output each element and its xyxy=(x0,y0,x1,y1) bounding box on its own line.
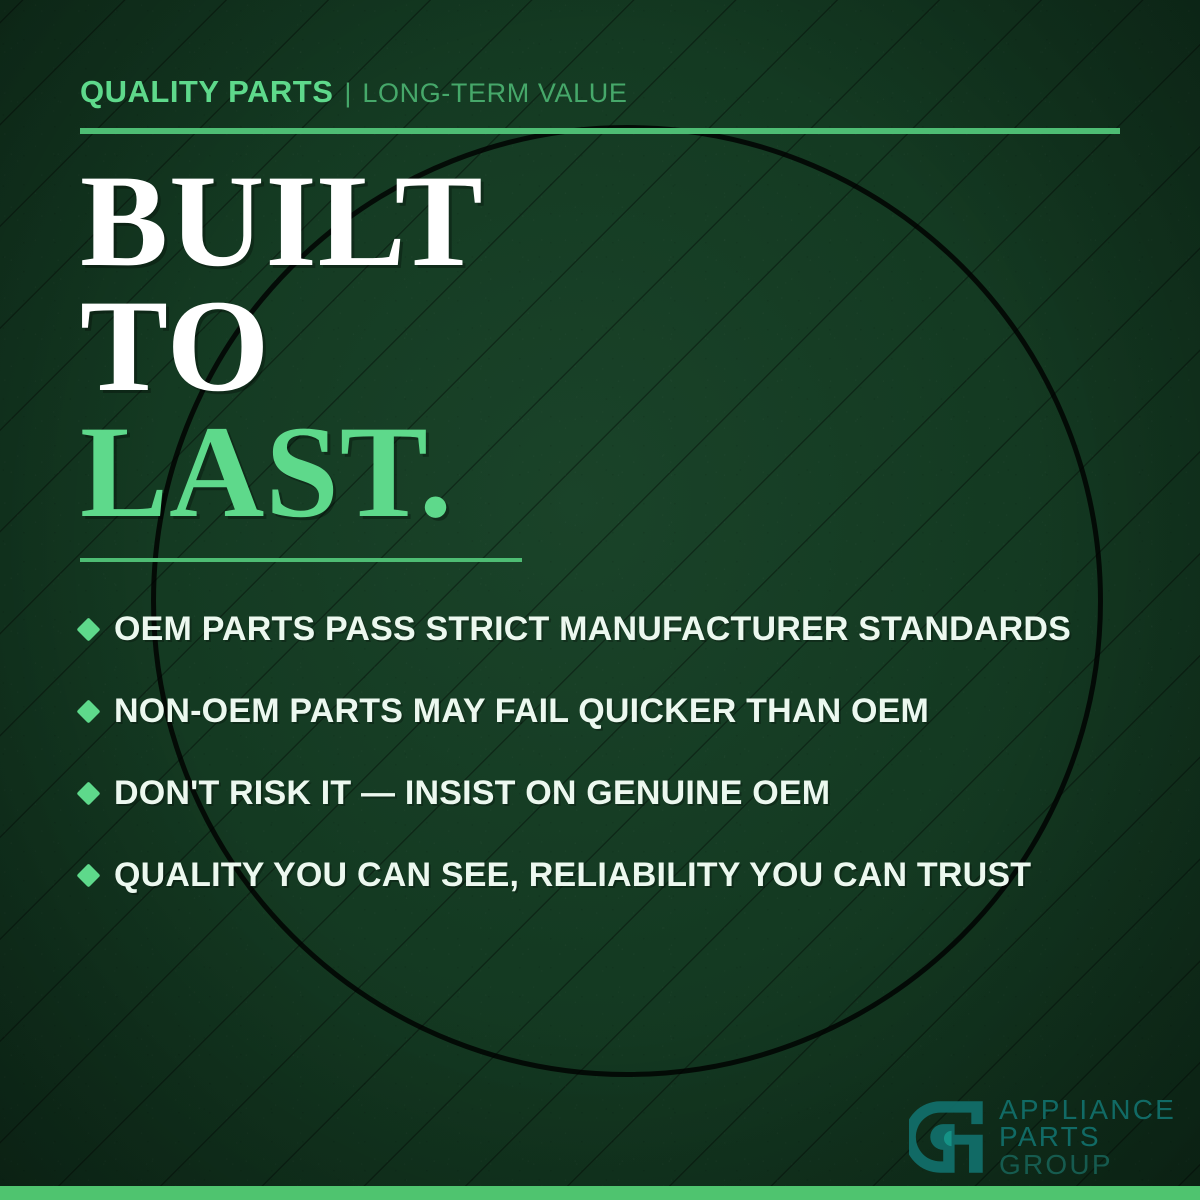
benefits-list: OEM PARTS PASS STRICT MANUFACTURER STAND… xyxy=(80,588,1140,916)
logo-line-2: PARTS xyxy=(999,1123,1176,1150)
eyebrow-separator: | xyxy=(344,78,351,109)
logo-line-1: APPLIANCE xyxy=(999,1096,1176,1123)
list-item: DON'T RISK IT — INSIST ON GENUINE OEM xyxy=(80,752,1140,834)
list-item: OEM PARTS PASS STRICT MANUFACTURER STAND… xyxy=(80,588,1140,670)
diamond-bullet-icon xyxy=(76,781,100,805)
diamond-bullet-icon xyxy=(76,617,100,641)
list-item: NON-OEM PARTS MAY FAIL QUICKER THAN OEM xyxy=(80,670,1140,752)
bottom-accent-bar xyxy=(0,1186,1200,1200)
headline-line-3: LAST. xyxy=(80,409,484,534)
diamond-bullet-icon xyxy=(76,699,100,723)
eyebrow-light-label: LONG-TERM VALUE xyxy=(362,78,627,109)
headline-line-2: TO xyxy=(80,283,484,408)
diamond-bullet-icon xyxy=(76,863,100,887)
poster-content: QUALITY PARTS | LONG-TERM VALUE BUILT TO… xyxy=(0,0,1200,1200)
list-item-label: NON-OEM PARTS MAY FAIL QUICKER THAN OEM xyxy=(114,692,929,731)
list-item: QUALITY YOU CAN SEE, RELIABILITY YOU CAN… xyxy=(80,834,1140,916)
headline-divider-rule xyxy=(80,558,522,562)
promo-poster: QUALITY PARTS | LONG-TERM VALUE BUILT TO… xyxy=(0,0,1200,1200)
list-item-label: QUALITY YOU CAN SEE, RELIABILITY YOU CAN… xyxy=(114,856,1031,895)
list-item-label: DON'T RISK IT — INSIST ON GENUINE OEM xyxy=(114,774,830,813)
page-title: BUILT TO LAST. xyxy=(80,158,484,534)
eyebrow-strong-label: QUALITY PARTS xyxy=(80,74,333,110)
brand-logo-wordmark: APPLIANCE PARTS GROUP xyxy=(999,1096,1176,1178)
brand-logo: APPLIANCE PARTS GROUP xyxy=(909,1096,1176,1178)
headline-line-1: BUILT xyxy=(80,158,484,283)
eyebrow: QUALITY PARTS | LONG-TERM VALUE xyxy=(80,74,627,110)
g-monogram-icon xyxy=(909,1099,985,1175)
logo-line-3: GROUP xyxy=(999,1151,1176,1178)
list-item-label: OEM PARTS PASS STRICT MANUFACTURER STAND… xyxy=(114,610,1071,649)
header-divider-rule xyxy=(80,128,1120,134)
